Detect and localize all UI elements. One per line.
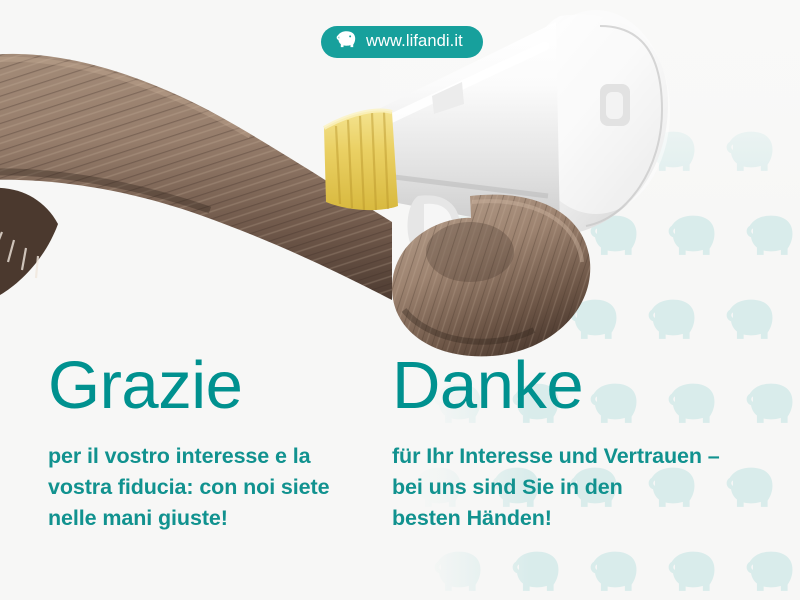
website-url-text: www.lifandi.it xyxy=(366,33,463,51)
watermark-elephant-icon xyxy=(654,530,732,600)
german-headline: Danke xyxy=(392,352,732,419)
italian-headline: Grazie xyxy=(48,352,378,419)
watermark-elephant-icon xyxy=(400,110,478,194)
watermark-elephant-icon xyxy=(634,278,712,362)
elephant-icon xyxy=(336,31,357,53)
italian-body-line-1: per il vostro interesse e la xyxy=(48,441,378,472)
watermark-elephant-icon xyxy=(576,194,654,278)
watermark-elephant-icon xyxy=(634,110,712,194)
german-body-line-3: besten Händen! xyxy=(392,503,732,534)
watermark-elephant-icon xyxy=(732,362,800,446)
italian-body-line-3: nelle mani giuste! xyxy=(48,503,378,534)
trunk-tip-coil xyxy=(392,195,590,357)
watermark-elephant-icon xyxy=(790,278,800,362)
german-text-column: Danke für Ihr Interesse und Vertrauen – … xyxy=(392,352,732,535)
watermark-elephant-icon xyxy=(498,530,576,600)
italian-body: per il vostro interesse e la vostra fidu… xyxy=(48,419,378,535)
watermark-elephant-icon xyxy=(732,194,800,278)
watermark-elephant-icon xyxy=(732,530,800,600)
watermark-elephant-icon xyxy=(576,530,654,600)
poster-canvas: www.lifandi.it Grazie per il vostro inte… xyxy=(0,0,800,600)
website-badge[interactable]: www.lifandi.it xyxy=(321,26,483,58)
german-body-line-2: bei uns sind Sie in den xyxy=(392,472,732,503)
watermark-elephant-icon xyxy=(420,194,498,278)
watermark-elephant-icon xyxy=(420,530,498,600)
german-body-line-1: für Ihr Interesse und Vertrauen – xyxy=(392,441,732,472)
watermark-elephant-icon xyxy=(556,110,634,194)
watermark-elephant-icon xyxy=(654,194,732,278)
italian-body-line-2: vostra fiducia: con noi siete xyxy=(48,472,378,503)
italian-text-column: Grazie per il vostro interesse e la vost… xyxy=(48,352,378,535)
watermark-elephant-icon xyxy=(712,110,790,194)
watermark-elephant-icon xyxy=(498,194,576,278)
watermark-elephant-icon xyxy=(712,278,790,362)
watermark-elephant-icon xyxy=(790,446,800,530)
watermark-elephant-icon xyxy=(478,110,556,194)
trunk-shape xyxy=(0,40,410,310)
german-body: für Ihr Interesse und Vertrauen – bei un… xyxy=(392,419,732,535)
watermark-elephant-icon xyxy=(790,110,800,194)
